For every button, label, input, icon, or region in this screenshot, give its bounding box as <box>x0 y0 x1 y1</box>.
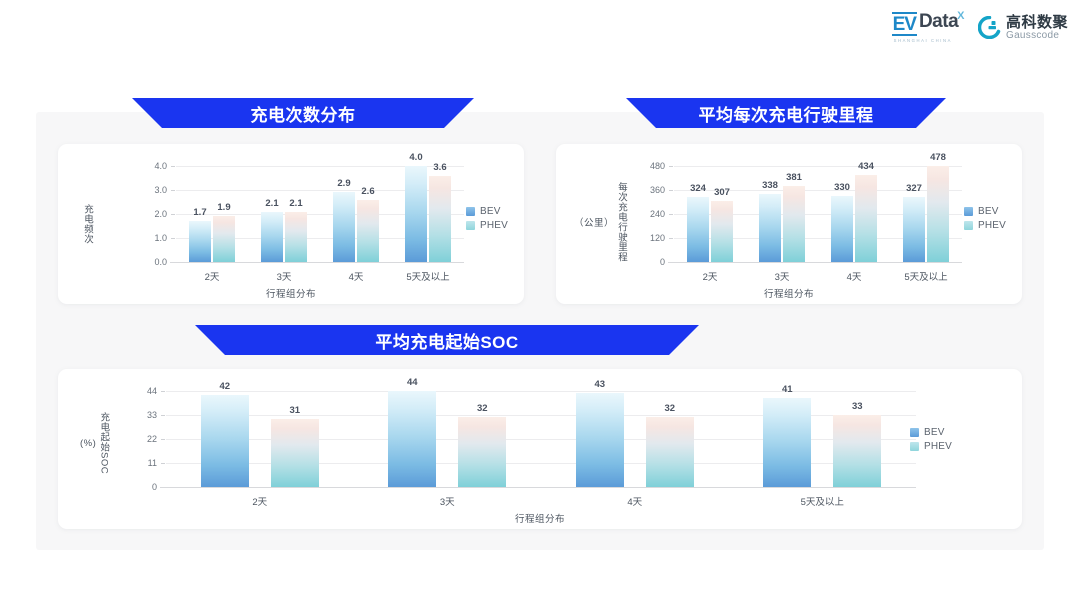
bar-phev[interactable] <box>357 200 379 262</box>
x-axis-category-label: 4天 <box>349 269 364 283</box>
x-axis-category-label: 2天 <box>205 269 220 283</box>
bar-phev[interactable] <box>213 216 235 262</box>
legend-label: PHEV <box>480 220 508 231</box>
x-axis-line <box>160 487 916 488</box>
y-axis-label-line: 每次充电行驶里程 <box>614 182 628 262</box>
y-axis-tick-label: 360 <box>650 185 665 195</box>
x-axis-category-label: 3天 <box>277 269 292 283</box>
bar-phev[interactable] <box>429 176 451 262</box>
legend-item-phev[interactable]: PHEV <box>964 220 1006 231</box>
y-axis-tick-mark <box>161 415 165 416</box>
bar-value-label: 2.1 <box>265 198 278 209</box>
bar-value-label: 41 <box>782 384 793 395</box>
grid-line <box>166 391 916 392</box>
bar-bev[interactable] <box>831 196 853 262</box>
y-axis-tick-label: 3.0 <box>154 185 167 195</box>
bar-value-label: 327 <box>906 183 922 194</box>
x-axis-title: 行程组分布 <box>58 511 1022 525</box>
bar-bev[interactable] <box>333 192 355 262</box>
x-axis-category-label: 5天及以上 <box>904 269 947 283</box>
chart-title-text-1: 充电次数分布 <box>251 101 356 126</box>
evdata-logo-ev: EV <box>892 12 917 36</box>
y-axis-tick-label: 0 <box>660 257 665 267</box>
y-axis-tick-label: 240 <box>650 209 665 219</box>
y-axis-tick-mark <box>161 463 165 464</box>
bar-value-label: 1.9 <box>217 202 230 213</box>
legend-swatch-icon <box>466 207 475 216</box>
evdata-logo-subtitle: SHANGHAI CHINA <box>894 38 952 43</box>
legend-label: BEV <box>480 206 501 217</box>
bar-chart-charge-frequency: 充电频次0.01.02.03.04.01.71.92天2.12.13天2.92.… <box>58 144 524 304</box>
legend-label: PHEV <box>924 441 952 452</box>
bar-phev[interactable] <box>646 417 694 487</box>
chart-title-banner-3: 平均充电起始SOC <box>195 325 699 355</box>
y-axis-tick-label: 4.0 <box>154 161 167 171</box>
bar-value-label: 2.6 <box>361 186 374 197</box>
bar-value-label: 3.6 <box>433 162 446 173</box>
y-axis-tick-label: 2.0 <box>154 209 167 219</box>
bar-value-label: 32 <box>664 403 675 414</box>
x-axis-line <box>668 262 962 263</box>
y-axis-tick-label: 1.0 <box>154 233 167 243</box>
y-axis-tick-label: 44 <box>147 386 157 396</box>
y-axis-tick-mark <box>171 214 175 215</box>
bar-phev[interactable] <box>833 415 881 487</box>
chart-legend: BEVPHEV <box>466 206 508 231</box>
bar-value-label: 324 <box>690 183 706 194</box>
bar-value-label: 330 <box>834 182 850 193</box>
bar-chart-start-soc: 充电起始SOC(%)01122334442312天44323天43324天413… <box>58 369 1022 529</box>
legend-swatch-icon <box>466 221 475 230</box>
gausscode-g-mark-icon <box>978 16 1001 39</box>
bar-bev[interactable] <box>763 398 811 487</box>
bar-phev[interactable] <box>927 166 949 262</box>
chart-legend: BEVPHEV <box>964 206 1006 231</box>
x-axis-category-label: 3天 <box>440 494 455 508</box>
legend-swatch-icon <box>964 221 973 230</box>
legend-item-bev[interactable]: BEV <box>466 206 508 217</box>
gausscode-logo: 高科数聚 Gausscode <box>978 15 1068 41</box>
bar-value-label: 307 <box>714 187 730 198</box>
legend-item-phev[interactable]: PHEV <box>910 441 952 452</box>
y-axis-label-line: (%) <box>80 438 96 449</box>
y-axis-tick-mark <box>161 391 165 392</box>
bar-value-label: 381 <box>786 172 802 183</box>
y-axis-tick-label: 22 <box>147 434 157 444</box>
chart-title-banner-2: 平均每次充电行驶里程 <box>626 98 946 128</box>
bar-phev[interactable] <box>285 212 307 262</box>
y-axis-label: 充电频次 <box>80 174 94 274</box>
bar-phev[interactable] <box>711 201 733 262</box>
y-axis-tick-label: 480 <box>650 161 665 171</box>
bar-bev[interactable] <box>405 166 427 262</box>
x-axis-category-label: 4天 <box>847 269 862 283</box>
bar-value-label: 1.7 <box>193 207 206 218</box>
x-axis-category-label: 5天及以上 <box>801 494 844 508</box>
bar-phev[interactable] <box>783 186 805 262</box>
y-axis-tick-mark <box>669 214 673 215</box>
bar-value-label: 32 <box>477 403 488 414</box>
chart-card-start-soc: 充电起始SOC(%)01122334442312天44323天43324天413… <box>58 369 1022 529</box>
bar-value-label: 44 <box>407 377 418 388</box>
x-axis-title: 行程组分布 <box>58 286 524 300</box>
x-axis-category-label: 5天及以上 <box>406 269 449 283</box>
chart-card-charge-frequency: 充电频次0.01.02.03.04.01.71.92天2.12.13天2.92.… <box>58 144 524 304</box>
legend-label: BEV <box>978 206 999 217</box>
y-axis-label: 充电起始SOC(%) <box>80 387 110 499</box>
chart-card-avg-distance: 每次充电行驶里程（公里）01202403604803243072天3383813… <box>556 144 1022 304</box>
chart-title-text-2: 平均每次充电行驶里程 <box>699 101 874 126</box>
legend-label: BEV <box>924 427 945 438</box>
logo-bar: EV Data X SHANGHAI CHINA 高科数聚 Gausscode <box>892 12 1068 43</box>
x-axis-category-label: 4天 <box>627 494 642 508</box>
y-axis-label-line: 充电起始SOC <box>96 412 110 474</box>
gausscode-logo-en: Gausscode <box>1006 31 1068 41</box>
legend-swatch-icon <box>910 428 919 437</box>
bar-phev[interactable] <box>855 175 877 262</box>
y-axis-tick-label: 0.0 <box>154 257 167 267</box>
y-axis-label-line: 充电频次 <box>80 204 94 244</box>
bar-bev[interactable] <box>201 395 249 487</box>
y-axis-tick-mark <box>161 439 165 440</box>
evdata-logo-data: Data <box>919 12 958 31</box>
legend-label: PHEV <box>978 220 1006 231</box>
legend-swatch-icon <box>964 207 973 216</box>
bar-bev[interactable] <box>687 197 709 262</box>
bar-phev[interactable] <box>458 417 506 487</box>
bar-value-label: 42 <box>219 381 230 392</box>
grid-line <box>674 166 962 167</box>
bar-bev[interactable] <box>576 393 624 487</box>
y-axis-tick-mark <box>171 166 175 167</box>
y-axis-tick-label: 120 <box>650 233 665 243</box>
y-axis-tick-mark <box>669 166 673 167</box>
bar-value-label: 33 <box>852 401 863 412</box>
legend-swatch-icon <box>910 442 919 451</box>
evdata-logo: EV Data X SHANGHAI CHINA <box>892 12 964 43</box>
chart-title-banner-1: 充电次数分布 <box>132 98 474 128</box>
slide-canvas: EV Data X SHANGHAI CHINA 高科数聚 Gausscode <box>0 0 1080 608</box>
x-axis-category-label: 2天 <box>703 269 718 283</box>
bar-value-label: 2.9 <box>337 178 350 189</box>
legend-item-bev[interactable]: BEV <box>964 206 1006 217</box>
chart-title-text-3: 平均充电起始SOC <box>375 328 518 353</box>
x-axis-title: 行程组分布 <box>556 286 1022 300</box>
y-axis-tick-label: 11 <box>148 458 157 468</box>
evdata-logo-x-icon: X <box>957 11 964 22</box>
y-axis-tick-label: 0 <box>152 482 157 492</box>
y-axis-label-line: （公里） <box>574 215 614 229</box>
y-axis-tick-mark <box>669 190 673 191</box>
bar-value-label: 31 <box>289 405 300 416</box>
y-axis-label: 每次充电行驶里程（公里） <box>574 156 628 288</box>
bar-value-label: 4.0 <box>409 152 422 163</box>
bar-bev[interactable] <box>388 391 436 487</box>
bar-value-label: 43 <box>594 379 605 390</box>
y-axis-tick-label: 33 <box>147 410 157 420</box>
bar-phev[interactable] <box>271 419 319 487</box>
bar-bev[interactable] <box>759 194 781 262</box>
legend-item-phev[interactable]: PHEV <box>466 220 508 231</box>
y-axis-tick-mark <box>171 238 175 239</box>
bar-value-label: 338 <box>762 180 778 191</box>
chart-legend: BEVPHEV <box>910 427 952 452</box>
bar-value-label: 434 <box>858 161 874 172</box>
x-axis-line <box>170 262 464 263</box>
y-axis-tick-mark <box>669 238 673 239</box>
bar-bev[interactable] <box>261 212 283 262</box>
x-axis-category-label: 2天 <box>252 494 267 508</box>
legend-item-bev[interactable]: BEV <box>910 427 952 438</box>
bar-value-label: 478 <box>930 152 946 163</box>
gausscode-logo-cn: 高科数聚 <box>1006 15 1068 30</box>
bar-bev[interactable] <box>903 197 925 262</box>
y-axis-tick-mark <box>171 190 175 191</box>
x-axis-category-label: 3天 <box>775 269 790 283</box>
bar-chart-avg-distance: 每次充电行驶里程（公里）01202403604803243072天3383813… <box>556 144 1022 304</box>
bar-bev[interactable] <box>189 221 211 262</box>
bar-value-label: 2.1 <box>289 198 302 209</box>
